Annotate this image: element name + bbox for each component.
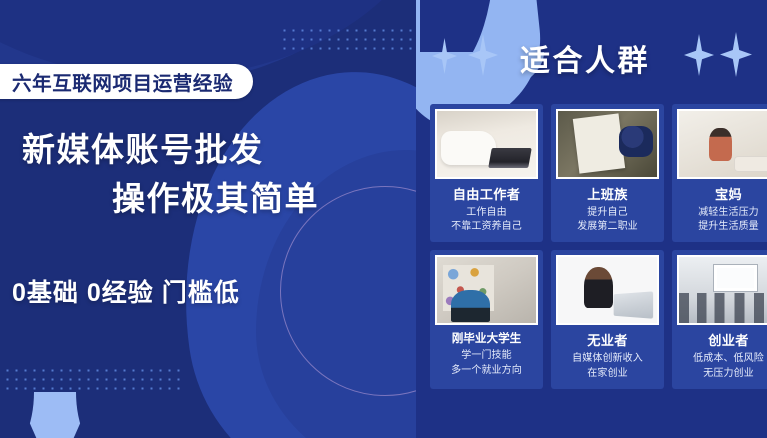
audience-card[interactable]: 自由工作者 工作自由 不靠工资养自己 bbox=[430, 104, 543, 242]
audience-card-desc-line-1: 低成本、低风险 bbox=[677, 352, 767, 366]
hero-headline-line-2: 操作极其简单 bbox=[0, 175, 400, 224]
photo-stressed-woman-laptop bbox=[558, 257, 657, 323]
photo-office-worker-desk bbox=[558, 111, 657, 177]
photo-freelancer-laptop-on-bed bbox=[437, 111, 536, 177]
audience-card-desc-line-2: 不靠工资养自己 bbox=[435, 220, 538, 234]
audience-card-thumbnail bbox=[556, 109, 659, 179]
audience-card-desc-line-2: 发展第二职业 bbox=[556, 220, 659, 234]
dot-grid-top-icon bbox=[280, 26, 416, 55]
audience-card-title: 无业者 bbox=[556, 330, 659, 349]
hero-headline-line-1: 新媒体账号批发 bbox=[0, 126, 400, 175]
audience-card-description: 低成本、低风险 无压力创业 bbox=[677, 352, 767, 380]
audience-card-desc-line-1: 减轻生活压力 bbox=[677, 206, 767, 220]
audience-card-desc-line-2: 在家创业 bbox=[556, 367, 659, 381]
left-hero-panel: 六年互联网项目运营经验 新媒体账号批发 操作极其简单 0基础 0经验 门槛低 bbox=[0, 0, 416, 438]
experience-badge: 六年互联网项目运营经验 bbox=[0, 64, 253, 99]
audience-card[interactable]: 创业者 低成本、低风险 无压力创业 bbox=[672, 250, 767, 388]
triangle-mask-right bbox=[76, 392, 106, 438]
section-title: 适合人群 bbox=[520, 36, 650, 80]
audience-card-description: 自媒体创新收入 在家创业 bbox=[556, 352, 659, 380]
audience-card-title: 创业者 bbox=[677, 330, 767, 349]
sparkle-icon bbox=[720, 32, 752, 77]
sparkle-icon bbox=[684, 34, 714, 76]
audience-card-description: 提升自己 发展第二职业 bbox=[556, 206, 659, 234]
audience-card-thumbnail bbox=[677, 109, 767, 179]
audience-card-title: 上班族 bbox=[556, 184, 659, 203]
audience-card-desc-line-1: 提升自己 bbox=[556, 206, 659, 220]
audience-card-thumbnail bbox=[435, 255, 538, 325]
audience-card-desc-line-1: 学一门技能 bbox=[435, 349, 538, 363]
audience-card-title: 自由工作者 bbox=[435, 184, 538, 203]
audience-card[interactable]: 无业者 自媒体创新收入 在家创业 bbox=[551, 250, 664, 388]
experience-badge-label: 六年互联网项目运营经验 bbox=[12, 67, 233, 96]
audience-card[interactable]: 刚毕业大学生 学一门技能 多一个就业方向 bbox=[430, 250, 543, 388]
audience-card[interactable]: 上班族 提升自己 发展第二职业 bbox=[551, 104, 664, 242]
audience-card-description: 减轻生活压力 提升生活质量 bbox=[677, 206, 767, 234]
audience-card-desc-line-2: 多一个就业方向 bbox=[435, 364, 538, 378]
audience-card-thumbnail bbox=[677, 255, 767, 325]
hero-tagline: 0基础 0经验 门槛低 bbox=[12, 273, 240, 309]
audience-card-desc-line-2: 无压力创业 bbox=[677, 367, 767, 381]
audience-card-thumbnail bbox=[556, 255, 659, 325]
photo-conference-room-seats bbox=[679, 257, 767, 323]
audience-card-desc-line-1: 工作自由 bbox=[435, 206, 538, 220]
photo-mother-with-baby-laptop bbox=[679, 111, 767, 177]
audience-card-description: 学一门技能 多一个就业方向 bbox=[435, 349, 538, 377]
audience-card-title: 宝妈 bbox=[677, 184, 767, 203]
audience-card-thumbnail bbox=[435, 109, 538, 179]
triangle-mask-left bbox=[4, 392, 34, 438]
photo-graduate-at-computer bbox=[437, 257, 536, 323]
audience-card-description: 工作自由 不靠工资养自己 bbox=[435, 206, 538, 234]
audience-card-grid: 自由工作者 工作自由 不靠工资养自己 上班族 提升自己 发展第二职业 bbox=[430, 104, 767, 389]
audience-panel: 适合人群 自由工作者 工作自由 不靠工资养自己 上班族 bbox=[416, 0, 767, 438]
audience-card[interactable]: 宝妈 减轻生活压力 提升生活质量 bbox=[672, 104, 767, 242]
promo-poster: 六年互联网项目运营经验 新媒体账号批发 操作极其简单 0基础 0经验 门槛低 适… bbox=[0, 0, 767, 438]
audience-card-desc-line-1: 自媒体创新收入 bbox=[556, 352, 659, 366]
audience-card-desc-line-2: 提升生活质量 bbox=[677, 220, 767, 234]
audience-card-title: 刚毕业大学生 bbox=[435, 330, 538, 346]
hero-headline: 新媒体账号批发 操作极其简单 bbox=[0, 126, 400, 224]
